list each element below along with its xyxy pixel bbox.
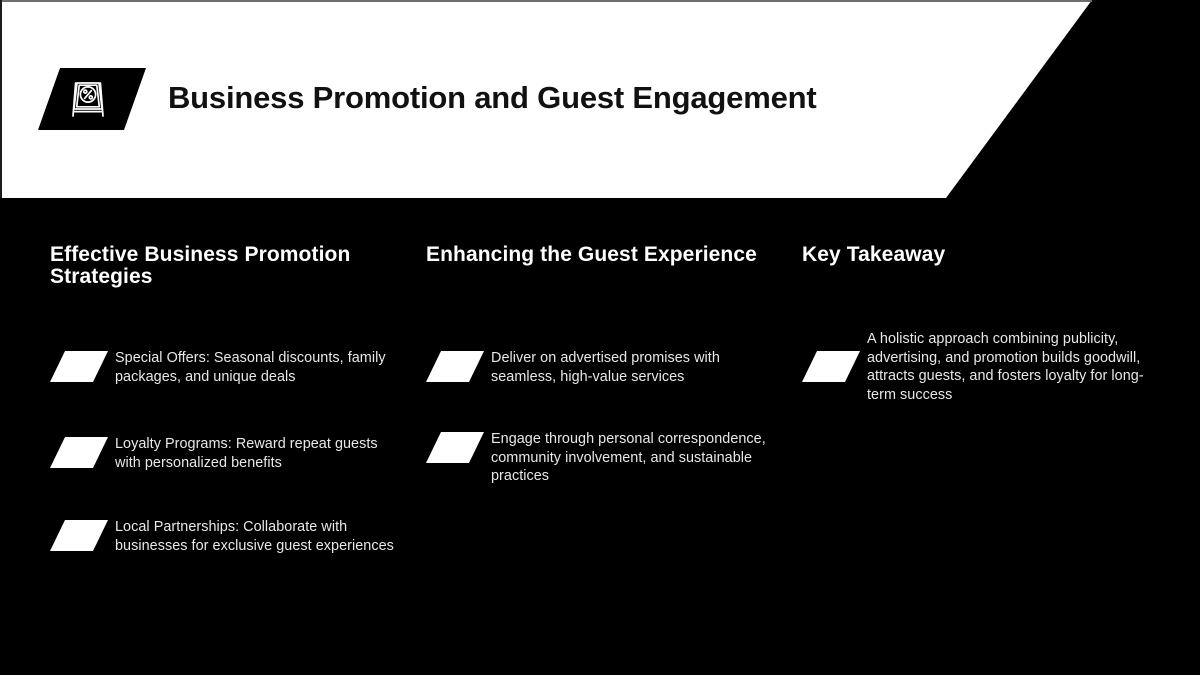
- bullet-marker-icon: [50, 437, 108, 468]
- bullet-marker-icon: [50, 520, 108, 551]
- list-item-text: Local Partnerships: Collaborate with bus…: [115, 518, 405, 555]
- discount-sign-icon: [66, 77, 110, 121]
- list-item-text: Special Offers: Seasonal discounts, fami…: [115, 349, 405, 386]
- header-icon-badge: [38, 68, 146, 130]
- slide-canvas: Business Promotion and Guest Engagement …: [0, 0, 1200, 675]
- header-top-rule: [0, 0, 1092, 2]
- list-item-text: Deliver on advertised promises with seam…: [491, 349, 786, 386]
- column-heading: Effective Business Promotion Strategies: [50, 244, 400, 288]
- list-item-text: Loyalty Programs: Reward repeat guests w…: [115, 435, 405, 472]
- column-heading: Enhancing the Guest Experience: [426, 244, 757, 266]
- bullet-marker-icon: [802, 351, 860, 382]
- bullet-marker-icon: [50, 351, 108, 382]
- header-left-rule: [0, 0, 2, 198]
- column-heading: Key Takeaway: [802, 244, 945, 266]
- bullet-marker-icon: [426, 432, 484, 463]
- content-columns: Effective Business Promotion Strategies …: [0, 198, 1200, 675]
- list-item-text: Engage through personal correspondence, …: [491, 430, 786, 486]
- list-item-text: A holistic approach combining publicity,…: [867, 330, 1157, 404]
- bullet-marker-icon: [426, 351, 484, 382]
- page-title: Business Promotion and Guest Engagement: [168, 76, 998, 120]
